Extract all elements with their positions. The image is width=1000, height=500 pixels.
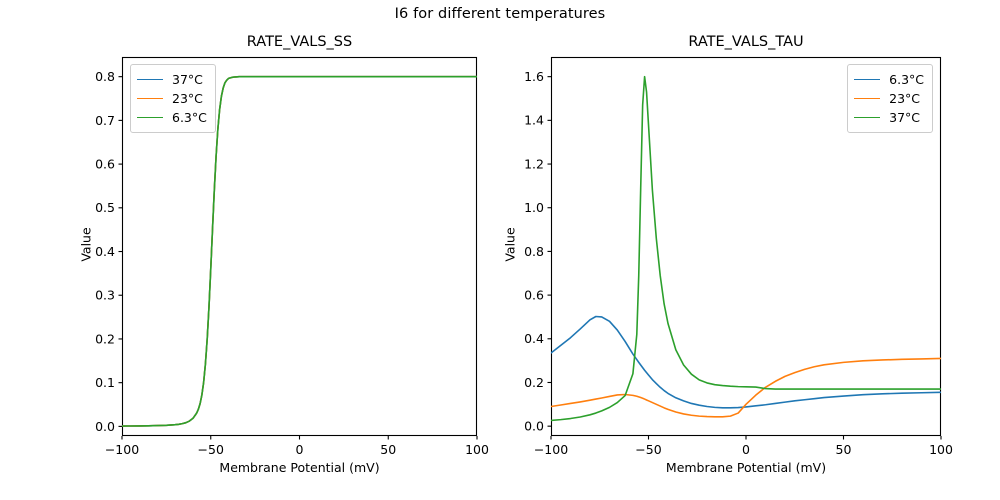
legend-label: 6.3°C (889, 72, 924, 87)
y-tick-label: 0.5 (95, 200, 115, 215)
y-tick-label: 0.6 (95, 156, 115, 171)
legend-swatch (854, 117, 880, 118)
legend-swatch (854, 79, 880, 80)
legend-entry[interactable]: 37°C (854, 108, 924, 127)
y-tick-label: 0.4 (524, 331, 544, 346)
legend-entry[interactable]: 6.3°C (137, 108, 207, 127)
legend-swatch (137, 79, 163, 80)
axes-title-right: RATE_VALS_TAU (551, 34, 941, 50)
ylabel-left: Value (79, 185, 94, 305)
legend-label: 23°C (172, 91, 203, 106)
legend-left[interactable]: 37°C23°C6.3°C (130, 64, 216, 133)
y-tick-label: 0.2 (524, 375, 544, 390)
matplotlib-figure: I6 for different temperatures RATE_VALS_… (0, 0, 1000, 500)
legend-swatch (854, 98, 880, 99)
y-tick-label: 1.2 (524, 156, 544, 171)
y-tick-label: 0.7 (95, 113, 115, 128)
x-tick-label: 100 (465, 442, 489, 457)
legend-swatch (137, 98, 163, 99)
legend-entry[interactable]: 37°C (137, 70, 207, 89)
xlabel-right: Membrane Potential (mV) (551, 460, 941, 475)
legend-label: 37°C (889, 110, 920, 125)
y-tick-label: 0.3 (95, 288, 115, 303)
legend-label: 6.3°C (172, 110, 207, 125)
legend-right[interactable]: 6.3°C23°C37°C (847, 64, 933, 133)
legend-entry[interactable]: 23°C (137, 89, 207, 108)
legend-swatch (137, 117, 163, 118)
y-tick-label: 0.2 (95, 331, 115, 346)
x-tick-label: 50 (836, 442, 852, 457)
y-tick-label: 1.4 (524, 113, 544, 128)
x-tick-label: 0 (742, 442, 750, 457)
axes-title-left: RATE_VALS_SS (122, 34, 477, 50)
y-tick-label: 1.0 (524, 200, 544, 215)
x-tick-label: −50 (198, 442, 224, 457)
x-tick-label: −100 (534, 442, 568, 457)
axes-rate-vals-tau: RATE_VALS_TAU −100−500501000.00.20.40.60… (551, 57, 941, 436)
figure-suptitle: I6 for different temperatures (0, 6, 1000, 22)
ylabel-right: Value (503, 185, 518, 305)
y-tick-label: 0.4 (95, 244, 115, 259)
x-tick-label: −100 (105, 442, 139, 457)
x-tick-label: 0 (296, 442, 304, 457)
y-tick-label: 0.6 (524, 288, 544, 303)
y-tick-label: 1.6 (524, 69, 544, 84)
legend-label: 37°C (172, 72, 203, 87)
y-tick-label: 0.1 (95, 375, 115, 390)
legend-entry[interactable]: 6.3°C (854, 70, 924, 89)
x-tick-label: 100 (929, 442, 953, 457)
axes-rate-vals-ss: RATE_VALS_SS −100−500501000.00.10.20.30.… (122, 57, 477, 436)
x-tick-label: −50 (635, 442, 661, 457)
y-tick-label: 0.8 (524, 244, 544, 259)
xlabel-left: Membrane Potential (mV) (122, 460, 477, 475)
legend-label: 23°C (889, 91, 920, 106)
legend-entry[interactable]: 23°C (854, 89, 924, 108)
series-line-6.3C (551, 317, 941, 408)
y-tick-label: 0.0 (95, 419, 115, 434)
y-tick-label: 0.8 (95, 69, 115, 84)
x-tick-label: 50 (380, 442, 396, 457)
y-tick-label: 0.0 (524, 419, 544, 434)
